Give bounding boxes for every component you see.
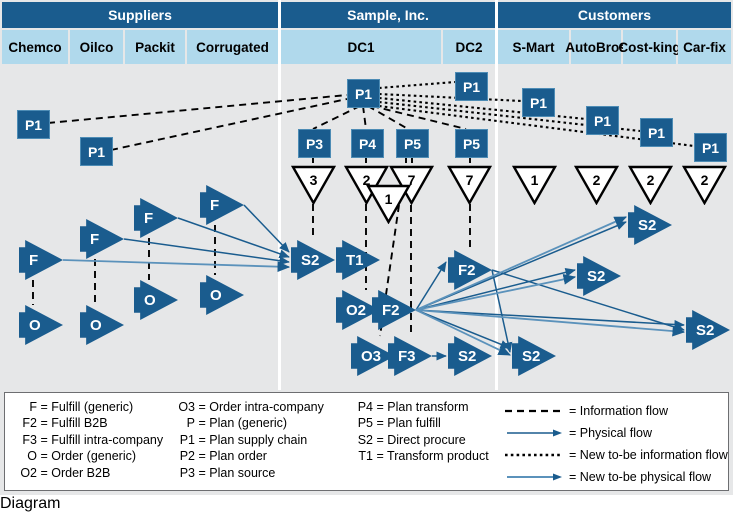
legend-text: = Direct procure <box>376 433 465 447</box>
legend-key: F2 <box>15 415 37 431</box>
legend-entry: F3 = Fulfill intra-company <box>15 432 163 448</box>
inventory-triangle-2[interactable]: 2 <box>574 165 619 205</box>
legend-text: = Fulfill intra-company <box>40 433 163 447</box>
legend-flow-solid-arrow: = Physical flow <box>503 423 728 443</box>
process-chevron-s2[interactable]: S2 <box>577 256 621 296</box>
process-chevron-o[interactable]: O <box>80 305 124 345</box>
legend-entry: P5 = Plan fulfill <box>351 415 489 431</box>
process-box-p1[interactable]: P1 <box>694 133 727 162</box>
legend-key: S2 <box>351 432 373 448</box>
legend-text: = Physical flow <box>569 426 652 440</box>
legend-flow-light-arrow: = New to-be physical flow <box>503 467 728 487</box>
legend-panel: F = Fulfill (generic)F2 = Fulfill B2BF3 … <box>4 392 729 491</box>
scor-diagram: SuppliersSample, Inc.CustomersChemcoOilc… <box>0 0 733 495</box>
inventory-triangle-7[interactable]: 7 <box>447 165 492 205</box>
legend-text: = Plan transform <box>376 400 468 414</box>
legend-key: P <box>173 415 195 431</box>
legend-entry: F2 = Fulfill B2B <box>15 415 163 431</box>
legend-key: P2 <box>173 448 195 464</box>
legend-text: = Fulfill (generic) <box>40 400 133 414</box>
process-box-p1[interactable]: P1 <box>522 88 555 117</box>
legend-entry: P4 = Plan transform <box>351 399 489 415</box>
legend-text: = Plan source <box>198 466 275 480</box>
legend-key: F3 <box>15 432 37 448</box>
legend-key: P1 <box>173 432 195 448</box>
legend-text: = Order intra-company <box>198 400 323 414</box>
process-box-p1[interactable]: P1 <box>586 106 619 135</box>
legend-entry: O2 = Order B2B <box>15 465 163 481</box>
process-chevron-o[interactable]: O <box>200 275 244 315</box>
legend-text: = Transform product <box>376 449 488 463</box>
flow-swatch-icon <box>503 427 565 439</box>
legend-key: F <box>15 399 37 415</box>
legend-key: O3 <box>173 399 195 415</box>
legend-text: = Plan fulfill <box>376 416 440 430</box>
legend-key: P3 <box>173 465 195 481</box>
process-chevron-s2[interactable]: S2 <box>686 310 730 350</box>
process-chevron-f[interactable]: F <box>19 240 63 280</box>
process-chevron-s2[interactable]: S2 <box>448 336 492 376</box>
legend-flow-key: = Information flow= Physical flow= New t… <box>503 401 728 489</box>
process-chevron-f2[interactable]: F2 <box>372 290 416 330</box>
process-box-p4[interactable]: P4 <box>351 129 384 158</box>
legend-key: P4 <box>351 399 373 415</box>
process-chevron-s2[interactable]: S2 <box>291 240 335 280</box>
legend-text: = Plan supply chain <box>198 433 307 447</box>
inventory-triangle-3[interactable]: 3 <box>291 165 336 205</box>
legend-text: = New to-be information flow <box>569 448 728 462</box>
inventory-triangle-1[interactable]: 1 <box>512 165 557 205</box>
legend-entry: P2 = Plan order <box>173 448 324 464</box>
process-chevron-o[interactable]: O <box>134 280 178 320</box>
legend-entry: S2 = Direct procure <box>351 432 489 448</box>
process-box-p1[interactable]: P1 <box>17 110 50 139</box>
legend-text: = Plan order <box>198 449 266 463</box>
legend-text: = Order B2B <box>40 466 110 480</box>
inventory-triangle-2[interactable]: 2 <box>682 165 727 205</box>
process-box-p3[interactable]: P3 <box>298 129 331 158</box>
legend-flow-dashed: = Information flow <box>503 401 728 421</box>
legend-entry: O3 = Order intra-company <box>173 399 324 415</box>
inventory-triangle-2[interactable]: 2 <box>628 165 673 205</box>
legend-column-2: O3 = Order intra-companyP = Plan (generi… <box>173 399 324 481</box>
legend-flow-dotted: = New to-be information flow <box>503 445 728 465</box>
process-chevron-f[interactable]: F <box>134 198 178 238</box>
legend-entry: P1 = Plan supply chain <box>173 432 324 448</box>
legend-text: = Order (generic) <box>40 449 136 463</box>
process-chevron-f2[interactable]: F2 <box>448 250 492 290</box>
legend-column-3: P4 = Plan transformP5 = Plan fulfillS2 =… <box>351 399 489 465</box>
process-box-p5[interactable]: P5 <box>396 129 429 158</box>
legend-key: T1 <box>351 448 373 464</box>
inventory-triangle-1[interactable]: 1 <box>366 184 411 224</box>
process-chevron-t1[interactable]: T1 <box>336 240 380 280</box>
process-chevron-f3[interactable]: F3 <box>388 336 432 376</box>
legend-key: P5 <box>351 415 373 431</box>
process-box-p1[interactable]: P1 <box>347 79 380 108</box>
flow-swatch-icon <box>503 471 565 483</box>
legend-entry: P = Plan (generic) <box>173 415 324 431</box>
legend-entry: F = Fulfill (generic) <box>15 399 163 415</box>
process-chevron-s2[interactable]: S2 <box>628 205 672 245</box>
legend-text: = New to-be physical flow <box>569 470 711 484</box>
flow-swatch-icon <box>503 405 565 417</box>
process-box-p1[interactable]: P1 <box>455 72 488 101</box>
legend-entry: P3 = Plan source <box>173 465 324 481</box>
legend-key: O <box>15 448 37 464</box>
process-chevron-f[interactable]: F <box>200 185 244 225</box>
process-box-p5[interactable]: P5 <box>455 129 488 158</box>
process-chevron-o[interactable]: O <box>19 305 63 345</box>
legend-text: = Plan (generic) <box>198 416 287 430</box>
process-box-p1[interactable]: P1 <box>80 137 113 166</box>
process-chevron-f[interactable]: F <box>80 219 124 259</box>
process-box-p1[interactable]: P1 <box>640 118 673 147</box>
process-chevron-s2[interactable]: S2 <box>512 336 556 376</box>
legend-entry: T1 = Transform product <box>351 448 489 464</box>
legend-text: = Fulfill B2B <box>40 416 107 430</box>
legend-entry: O = Order (generic) <box>15 448 163 464</box>
legend-column-1: F = Fulfill (generic)F2 = Fulfill B2BF3 … <box>15 399 163 481</box>
legend-key: O2 <box>15 465 37 481</box>
legend-text: = Information flow <box>569 404 668 418</box>
flow-swatch-icon <box>503 449 565 461</box>
